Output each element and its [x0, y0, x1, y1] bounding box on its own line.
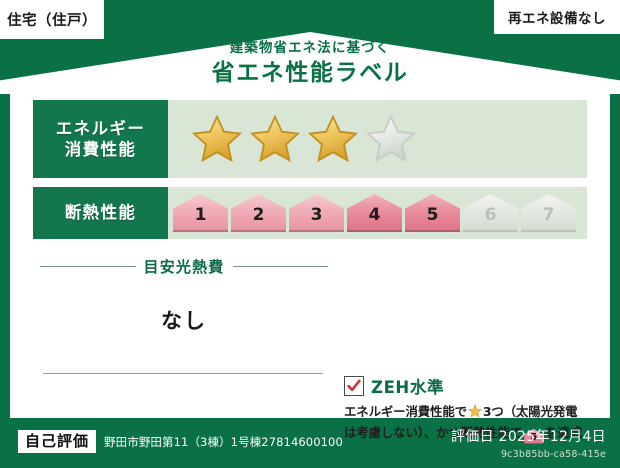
building-type-badge: 住宅（住戸）	[0, 0, 104, 39]
insulation-grade-7: 7	[521, 194, 576, 232]
renewable-energy-badge: 再エネ設備なし	[494, 0, 620, 34]
utility-cost-value: なし	[40, 305, 328, 335]
insulation-performance-value-box: 1234567	[168, 187, 587, 239]
insulation-grade-scale: 1234567	[168, 194, 576, 232]
grade-number: 2	[253, 207, 265, 232]
grade-number: 1	[195, 207, 207, 232]
utility-cost-divider	[43, 373, 323, 374]
star-icon-filled	[191, 114, 243, 164]
grade-number: 7	[543, 207, 555, 232]
zeh-title: ZEH水準	[371, 374, 444, 398]
footer-left: 自己評価 野田市野田第11（3棟）1号棟27814600100	[18, 430, 343, 453]
utility-cost-header: 目安光熱費	[40, 256, 328, 277]
zeh-header: ZEH水準	[344, 374, 606, 398]
energy-label-line2: 消費性能	[65, 139, 137, 160]
grade-number: 5	[427, 207, 439, 232]
evaluation-id: 9c3b85bb-ca58-415e	[451, 449, 606, 460]
self-evaluation-badge: 自己評価	[18, 430, 96, 453]
energy-performance-value-box	[168, 100, 587, 178]
zeh-desc-part2: 3つ（太陽光発電	[483, 404, 578, 419]
insulation-grade-5: 5	[405, 194, 460, 232]
star-icon-filled	[307, 114, 359, 164]
grade-number: 6	[485, 207, 497, 232]
star-rating	[168, 114, 417, 164]
insulation-grade-2: 2	[231, 194, 286, 232]
footer: 自己評価 野田市野田第11（3棟）1号棟27814600100 評価日 2025…	[0, 418, 620, 468]
footer-right: 評価日 2025年12月4日 9c3b85bb-ca58-415e	[451, 426, 606, 460]
utility-cost-panel: 目安光熱費 なし	[40, 256, 328, 396]
utility-cost-title: 目安光熱費	[144, 256, 225, 277]
zeh-desc-part1: エネルギー消費性能で	[344, 404, 467, 419]
rule-right	[233, 266, 329, 267]
star-icon-empty	[365, 114, 417, 164]
checkbox-checked-icon	[344, 376, 364, 396]
property-identifier: 野田市野田第11（3棟）1号棟27814600100	[104, 434, 343, 450]
evaluation-date: 評価日 2025年12月4日	[451, 426, 606, 446]
rule-left	[40, 266, 136, 267]
insulation-grade-6: 6	[463, 194, 518, 232]
roof-shape	[0, 32, 620, 94]
insulation-performance-row: 断熱性能 1234567	[33, 187, 587, 239]
energy-performance-label-box: エネルギー 消費性能	[33, 100, 168, 178]
insulation-performance-label-box: 断熱性能	[33, 187, 168, 239]
star-icon-filled	[249, 114, 301, 164]
grade-number: 4	[369, 207, 381, 232]
energy-label-line1: エネルギー	[56, 118, 146, 139]
label-body: エネルギー 消費性能 断熱性能 1234567 目安光熱費 なし	[10, 88, 610, 418]
grade-number: 3	[311, 207, 323, 232]
energy-performance-row: エネルギー 消費性能	[33, 100, 587, 178]
energy-performance-label: 住宅（住戸） 再エネ設備なし 建築物省エネ法に基づく 省エネ性能ラベル エネルギ…	[0, 0, 620, 468]
insulation-grade-1: 1	[173, 194, 228, 232]
insulation-grade-4: 4	[347, 194, 402, 232]
insulation-grade-3: 3	[289, 194, 344, 232]
